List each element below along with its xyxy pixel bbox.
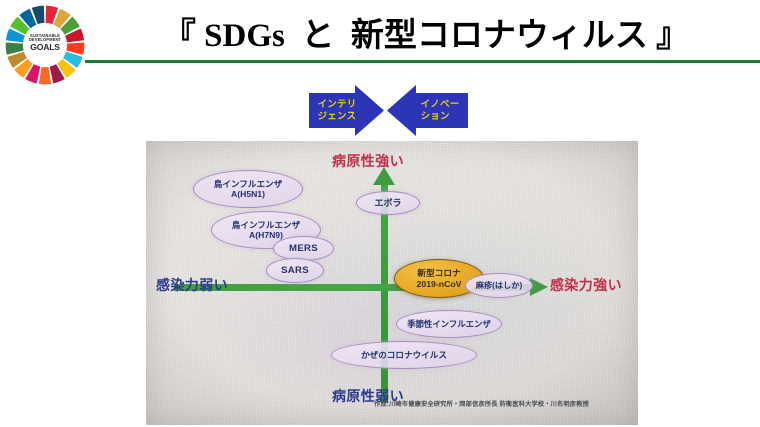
sdg-wheel-icon: [4, 2, 86, 88]
sdg-segment-9: [39, 67, 51, 84]
chart-credit: 作成:川崎市健康安全研究所・岡部信彦所長 防衛医科大学校・川名明彦教授: [374, 399, 632, 408]
axis-label-left: 感染力弱い: [156, 275, 228, 295]
page-title: 『 SDGs と 新型コロナウィルス 』: [96, 6, 756, 58]
data-point-common-cold-coronavirus: かぜのコロナウイルス: [331, 341, 477, 369]
arrow-intelligence-label: インテリ ジェンス: [311, 85, 363, 136]
data-point-measles: 麻疹(はしか): [465, 273, 533, 298]
arrow-innovation-label: イノベー ション: [414, 85, 466, 136]
data-point-ebola: エボラ: [356, 191, 420, 215]
arrow-intelligence: インテリ ジェンス: [309, 85, 384, 136]
axis-label-right: 感染力強い: [550, 275, 622, 295]
data-point-mers: MERS: [273, 236, 334, 261]
chart-photo: 病原性強い 病原性弱い 感染力弱い 感染力強い 鳥インフルエンザ A(H5N1)…: [146, 141, 638, 425]
title-divider: [85, 60, 760, 63]
data-point-h5n1: 鳥インフルエンザ A(H5N1): [193, 170, 303, 208]
sdg-logo: SUSTAINABLE DEVELOPMENT GOALS: [4, 2, 86, 88]
arrow-innovation: イノベー ション: [387, 85, 468, 136]
data-point-seasonal-influenza: 季節性インフルエンザ: [396, 310, 502, 338]
data-point-sars: SARS: [266, 258, 324, 283]
axis-label-top: 病原性強い: [332, 151, 404, 171]
